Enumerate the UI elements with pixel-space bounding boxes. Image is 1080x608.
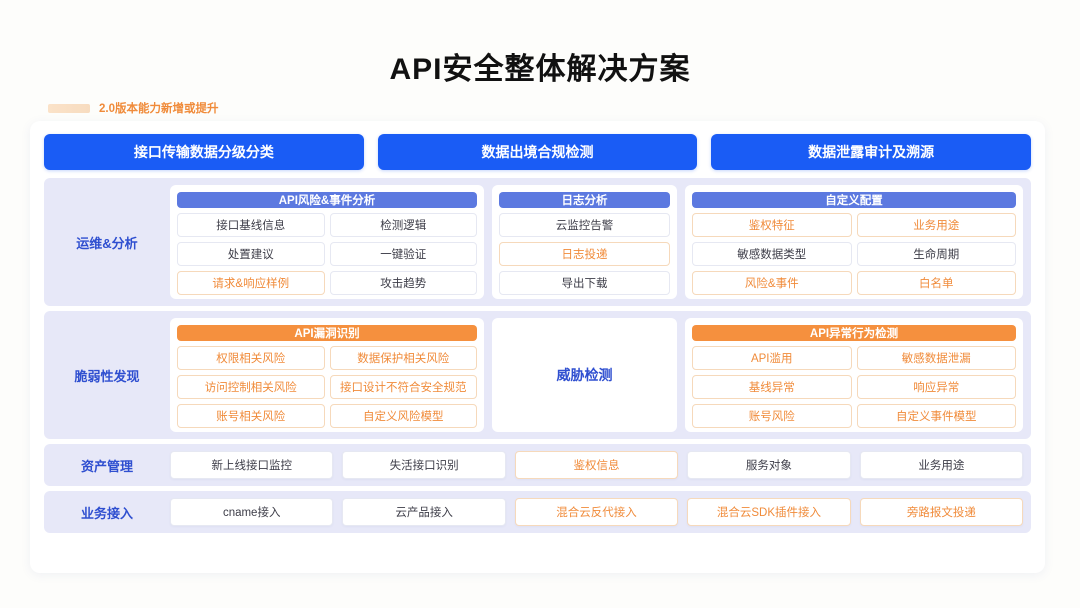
capability-item[interactable]: 风险&事件: [692, 271, 852, 295]
capability-item[interactable]: 混合云SDK插件接入: [687, 498, 850, 526]
capability-item[interactable]: 接口设计不符合安全规范: [330, 375, 478, 399]
capability-item[interactable]: 鉴权信息: [515, 451, 678, 479]
row-body: cname接入云产品接入混合云反代接入混合云SDK插件接入旁路报文投递: [170, 498, 1031, 526]
capability-item[interactable]: 一键验证: [330, 242, 478, 266]
capability-item[interactable]: 接口基线信息: [177, 213, 325, 237]
capability-row: 业务接入cname接入云产品接入混合云反代接入混合云SDK插件接入旁路报文投递: [44, 491, 1031, 533]
capability-item[interactable]: 处置建议: [177, 242, 325, 266]
legend: 2.0版本能力新增或提升: [48, 100, 219, 116]
capability-item[interactable]: 自定义风险模型: [330, 404, 478, 428]
row-label: 业务接入: [44, 503, 170, 522]
panel-center-label: 威胁检测: [557, 365, 613, 385]
capability-item[interactable]: 云监控告警: [499, 213, 670, 237]
capability-item[interactable]: 业务用途: [860, 451, 1023, 479]
panel-item-grid: 云监控告警日志投递导出下载: [499, 213, 670, 295]
solution-card: 接口传输数据分级分类数据出境合规检测数据泄露审计及溯源 运维&分析API风险&事…: [30, 121, 1045, 573]
row-body: API风险&事件分析接口基线信息检测逻辑处置建议一键验证请求&响应样例攻击趋势日…: [170, 185, 1023, 299]
legend-swatch-icon: [48, 104, 90, 113]
row-label: 运维&分析: [44, 185, 170, 299]
capability-item[interactable]: 账号相关风险: [177, 404, 325, 428]
panel-header: 日志分析: [499, 192, 670, 208]
row-label: 资产管理: [44, 456, 170, 475]
row-body: 新上线接口监控失活接口识别鉴权信息服务对象业务用途: [170, 451, 1031, 479]
capability-item[interactable]: 自定义事件模型: [857, 404, 1017, 428]
topbar-2[interactable]: 数据出境合规检测: [378, 134, 698, 170]
capability-item[interactable]: 日志投递: [499, 242, 670, 266]
capability-item[interactable]: 云产品接入: [342, 498, 505, 526]
capability-item[interactable]: 生命周期: [857, 242, 1017, 266]
capability-item[interactable]: 失活接口识别: [342, 451, 505, 479]
capability-item[interactable]: 混合云反代接入: [515, 498, 678, 526]
capability-item[interactable]: cname接入: [170, 498, 333, 526]
capability-item[interactable]: 响应异常: [857, 375, 1017, 399]
capability-item[interactable]: 业务用途: [857, 213, 1017, 237]
capability-item[interactable]: 服务对象: [687, 451, 850, 479]
panel: API风险&事件分析接口基线信息检测逻辑处置建议一键验证请求&响应样例攻击趋势: [170, 185, 484, 299]
topbar-1[interactable]: 接口传输数据分级分类: [44, 134, 364, 170]
capability-item[interactable]: 权限相关风险: [177, 346, 325, 370]
slide-canvas: API安全整体解决方案 2.0版本能力新增或提升 接口传输数据分级分类数据出境合…: [0, 0, 1080, 608]
page-title: API安全整体解决方案: [0, 44, 1080, 88]
panel: 日志分析云监控告警日志投递导出下载: [492, 185, 677, 299]
panel: 自定义配置鉴权特征业务用途敏感数据类型生命周期风险&事件白名单: [685, 185, 1023, 299]
capability-item[interactable]: 导出下载: [499, 271, 670, 295]
row-body: API漏洞识别权限相关风险数据保护相关风险访问控制相关风险接口设计不符合安全规范…: [170, 318, 1023, 432]
capability-item[interactable]: 鉴权特征: [692, 213, 852, 237]
row-label: 脆弱性发现: [44, 318, 170, 432]
capability-row: 资产管理新上线接口监控失活接口识别鉴权信息服务对象业务用途: [44, 444, 1031, 486]
panel-item-grid: 接口基线信息检测逻辑处置建议一键验证请求&响应样例攻击趋势: [177, 213, 477, 295]
topbar-group: 接口传输数据分级分类数据出境合规检测数据泄露审计及溯源: [44, 134, 1031, 170]
panel-header: 自定义配置: [692, 192, 1016, 208]
capability-item[interactable]: 攻击趋势: [330, 271, 478, 295]
capability-item[interactable]: 新上线接口监控: [170, 451, 333, 479]
legend-label: 2.0版本能力新增或提升: [99, 100, 219, 116]
capability-item[interactable]: 旁路报文投递: [860, 498, 1023, 526]
capability-item[interactable]: 敏感数据类型: [692, 242, 852, 266]
capability-item[interactable]: 检测逻辑: [330, 213, 478, 237]
capability-item[interactable]: API滥用: [692, 346, 852, 370]
panel: API异常行为检测API滥用敏感数据泄漏基线异常响应异常账号风险自定义事件模型: [685, 318, 1023, 432]
capability-item[interactable]: 访问控制相关风险: [177, 375, 325, 399]
panel-header: API风险&事件分析: [177, 192, 477, 208]
row-group: 运维&分析API风险&事件分析接口基线信息检测逻辑处置建议一键验证请求&响应样例…: [44, 178, 1031, 561]
panel-item-grid: 权限相关风险数据保护相关风险访问控制相关风险接口设计不符合安全规范账号相关风险自…: [177, 346, 477, 428]
capability-item[interactable]: 请求&响应样例: [177, 271, 325, 295]
topbar-3[interactable]: 数据泄露审计及溯源: [711, 134, 1031, 170]
capability-item[interactable]: 白名单: [857, 271, 1017, 295]
capability-item[interactable]: 敏感数据泄漏: [857, 346, 1017, 370]
capability-item[interactable]: 数据保护相关风险: [330, 346, 478, 370]
panel-item-grid: API滥用敏感数据泄漏基线异常响应异常账号风险自定义事件模型: [692, 346, 1016, 428]
panel: API漏洞识别权限相关风险数据保护相关风险访问控制相关风险接口设计不符合安全规范…: [170, 318, 484, 432]
panel-header: API异常行为检测: [692, 325, 1016, 341]
panel-item-grid: 鉴权特征业务用途敏感数据类型生命周期风险&事件白名单: [692, 213, 1016, 295]
capability-row: 脆弱性发现API漏洞识别权限相关风险数据保护相关风险访问控制相关风险接口设计不符…: [44, 311, 1031, 439]
capability-row: 运维&分析API风险&事件分析接口基线信息检测逻辑处置建议一键验证请求&响应样例…: [44, 178, 1031, 306]
panel-header: API漏洞识别: [177, 325, 477, 341]
panel-threat-detection: 威胁检测: [492, 318, 677, 432]
capability-item[interactable]: 账号风险: [692, 404, 852, 428]
capability-item[interactable]: 基线异常: [692, 375, 852, 399]
